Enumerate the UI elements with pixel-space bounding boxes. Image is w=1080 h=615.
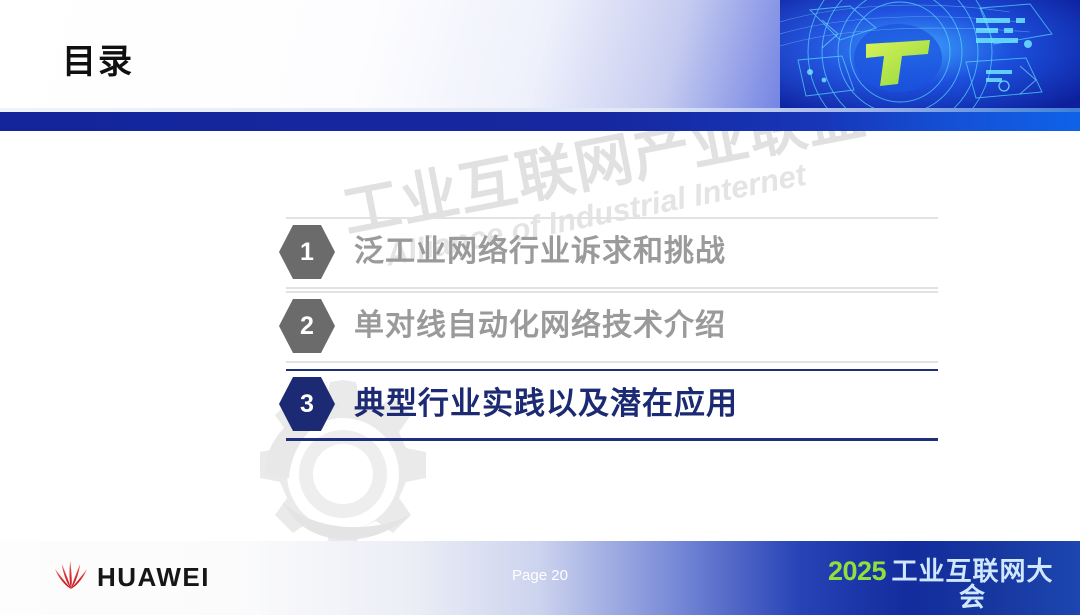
conference-name-cn: 工业互联网大会 (889, 558, 1056, 610)
toc-rule-bottom (286, 287, 938, 289)
toc-number-2: 2 (278, 297, 336, 355)
toc-number-1: 1 (278, 223, 336, 281)
presentation-slide: 目录 工业互联网产业联盟 Alliance of Industrial Inte… (0, 0, 1080, 615)
table-of-contents: 1 泛工业网络行业诉求和挑战 2 单对线自动化网络技术介绍 (0, 131, 1080, 541)
toc-rule-top (286, 369, 938, 371)
slide-body: 工业互联网产业联盟 Alliance of Industrial Interne… (0, 131, 1080, 541)
slide-footer: HUAWEI Page 20 2025 工业互联网大会 INDUSTRIAL I… (0, 541, 1080, 615)
toc-label-2: 单对线自动化网络技术介绍 (354, 303, 726, 349)
toc-label-3: 典型行业实践以及潜在应用 (354, 381, 738, 427)
page-title: 目录 (62, 45, 134, 79)
conference-year: 2025 (828, 558, 886, 585)
toc-rule-top (286, 217, 938, 219)
toc-rule-top (286, 291, 938, 293)
header-divider-bar (0, 112, 1080, 131)
toc-label-1: 泛工业网络行业诉求和挑战 (354, 229, 726, 275)
toc-item-3[interactable]: 3 典型行业实践以及潜在应用 (278, 369, 938, 441)
conference-logo-main: 2025 工业互联网大会 (828, 558, 1056, 610)
toc-number-3: 3 (278, 375, 336, 433)
toc-item-2[interactable]: 2 单对线自动化网络技术介绍 (278, 291, 938, 363)
toc-rule-bottom (286, 361, 938, 363)
conference-logo: 2025 工业互联网大会 INDUSTRIAL INTERNET CONFERE… (828, 558, 1056, 602)
header-tech-graphic (780, 0, 1080, 112)
toc-rule-bottom (286, 438, 938, 441)
slide-header: 目录 (0, 0, 1080, 112)
toc-item-1[interactable]: 1 泛工业网络行业诉求和挑战 (278, 217, 938, 289)
